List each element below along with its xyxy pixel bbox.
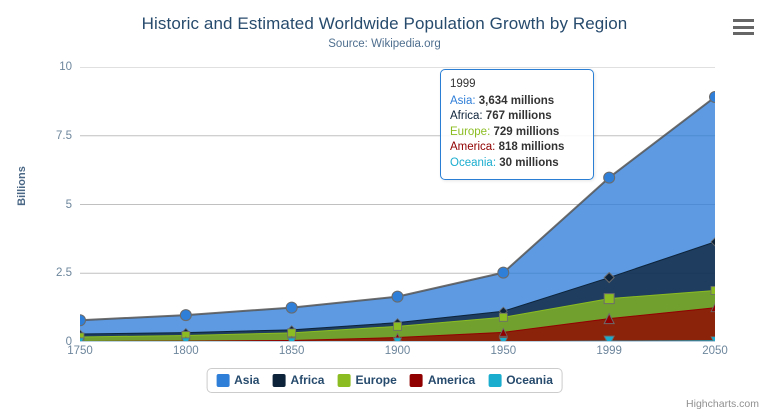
marker-asia[interactable] (392, 291, 403, 302)
tooltip-row: Oceania: 30 millions (450, 156, 584, 172)
tooltip-series-value: 30 millions (499, 157, 558, 169)
legend-item-africa[interactable]: Africa (272, 373, 324, 387)
plot-area (80, 67, 715, 342)
legend-label: Europe (355, 373, 396, 387)
legend-swatch-icon (410, 374, 423, 387)
legend-swatch-icon (337, 374, 350, 387)
legend-item-america[interactable]: America (410, 373, 475, 387)
x-axis-tick-label: 1800 (173, 345, 199, 357)
marker-asia[interactable] (498, 267, 509, 278)
x-axis-tick-label: 1950 (491, 345, 517, 357)
hamburger-menu-icon[interactable] (731, 16, 755, 38)
tooltip: 1999 Asia: 3,634 millionsAfrica: 767 mil… (440, 69, 594, 180)
y-axis-tick-label: 2.5 (12, 267, 72, 279)
y-axis-tick-labels: 02.557.510 (10, 67, 72, 342)
marker-europe[interactable] (711, 286, 715, 294)
tooltip-row: Europe: 729 millions (450, 125, 584, 141)
chart-subtitle: Source: Wikipedia.org (0, 38, 769, 50)
legend-item-asia[interactable]: Asia (216, 373, 259, 387)
legend-label: America (428, 373, 475, 387)
legend: AsiaAfricaEuropeAmericaOceania (206, 368, 563, 393)
hamburger-bar-1 (733, 19, 754, 22)
legend-swatch-icon (488, 374, 501, 387)
tooltip-series-name: Europe: (450, 126, 493, 138)
tooltip-series-value: 3,634 millions (479, 95, 554, 107)
tooltip-series-value: 729 millions (493, 126, 559, 138)
series-areas (80, 97, 715, 342)
x-axis-tick-label: 1850 (279, 345, 305, 357)
tooltip-row: Africa: 767 millions (450, 109, 584, 125)
tooltip-series-value: 767 millions (486, 110, 552, 122)
x-axis-tick-label: 1999 (596, 345, 622, 357)
stacked-area-plot (80, 67, 715, 342)
y-axis-tick-label: 7.5 (12, 130, 72, 142)
tooltip-row: America: 818 millions (450, 140, 584, 156)
credits-link[interactable]: Highcharts.com (686, 398, 759, 410)
marker-asia[interactable] (180, 310, 191, 321)
x-axis-tick-labels: 1750180018501900195019992050 (80, 345, 715, 363)
x-axis-tick-label: 1750 (67, 345, 93, 357)
tooltip-header: 1999 (450, 77, 584, 93)
x-axis-tick-label: 1900 (385, 345, 411, 357)
hamburger-bar-2 (733, 26, 754, 29)
tooltip-rows: Asia: 3,634 millionsAfrica: 767 millions… (450, 94, 584, 172)
marker-europe[interactable] (604, 294, 614, 304)
marker-europe[interactable] (499, 313, 507, 321)
y-axis-tick-label: 10 (12, 61, 72, 73)
chart-title: Historic and Estimated Worldwide Populat… (0, 14, 769, 34)
tooltip-series-value: 818 millions (499, 141, 565, 153)
legend-swatch-icon (216, 374, 229, 387)
tooltip-series-name: Africa: (450, 110, 486, 122)
legend-label: Africa (290, 373, 324, 387)
marker-europe[interactable] (394, 322, 402, 330)
tooltip-series-name: America: (450, 141, 499, 153)
tooltip-series-name: Asia: (450, 95, 479, 107)
legend-swatch-icon (272, 374, 285, 387)
hamburger-bar-3 (733, 32, 754, 35)
x-axis-tick-label: 2050 (702, 345, 728, 357)
chart-container: Historic and Estimated Worldwide Populat… (0, 0, 769, 416)
legend-item-europe[interactable]: Europe (337, 373, 396, 387)
legend-label: Oceania (506, 373, 553, 387)
y-axis-tick-label: 5 (12, 199, 72, 211)
marker-asia[interactable] (286, 302, 297, 313)
tooltip-series-name: Oceania: (450, 157, 499, 169)
legend-label: Asia (234, 373, 259, 387)
legend-item-oceania[interactable]: Oceania (488, 373, 553, 387)
y-axis-tick-label: 0 (12, 336, 72, 348)
tooltip-row: Asia: 3,634 millions (450, 94, 584, 110)
marker-asia[interactable] (604, 172, 615, 183)
